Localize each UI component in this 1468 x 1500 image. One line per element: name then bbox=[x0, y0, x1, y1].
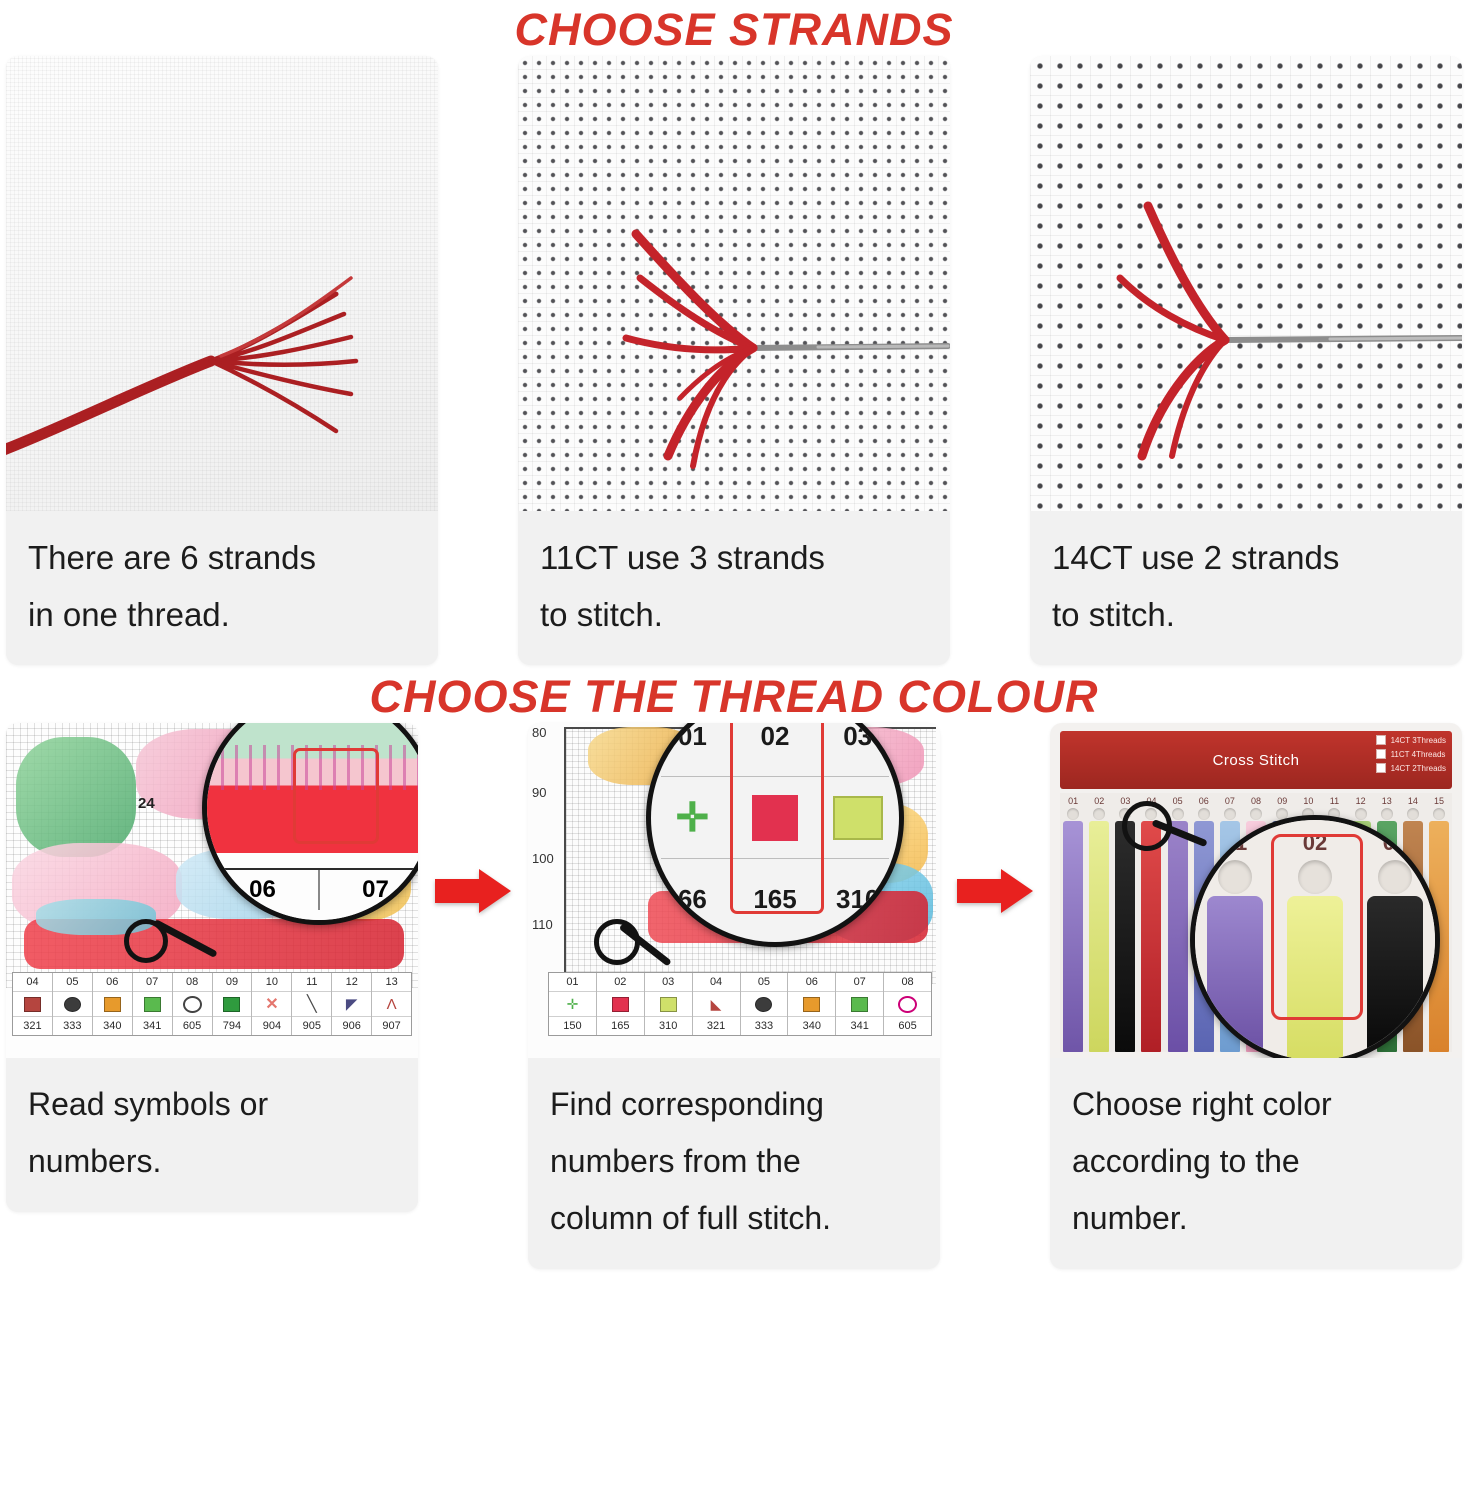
skein[interactable]: 02 bbox=[1086, 793, 1112, 1052]
pattern-chart: 24 06 07 04321 05333 06340 bbox=[6, 723, 418, 1058]
legend-column: 08605 bbox=[884, 973, 931, 1035]
numbered-chart: 80 90 100 110 01 02 03 bbox=[528, 723, 940, 1058]
legend-column: 06340 bbox=[788, 973, 836, 1035]
legend-symbol-leaf: ◤ bbox=[332, 992, 371, 1017]
legend-number: 333 bbox=[53, 1017, 92, 1035]
thread-3-strands-needle-illustration bbox=[518, 56, 950, 511]
legend-symbol bbox=[13, 992, 52, 1017]
magnifier-focus-ring bbox=[1122, 801, 1172, 851]
legend-number: 321 bbox=[693, 1017, 740, 1035]
arrow-2-wrap bbox=[945, 723, 1045, 1058]
legend-symbol bbox=[788, 992, 835, 1017]
magnifier-lens-skeins[interactable]: 01 02 03 bbox=[1190, 815, 1440, 1058]
legend-column: 10✕904 bbox=[252, 973, 292, 1035]
skein-label: 05 bbox=[1173, 796, 1183, 806]
lens-number-row: 06 07 bbox=[207, 868, 418, 910]
legend-column: 11╲905 bbox=[292, 973, 332, 1035]
caption-line-3: number. bbox=[1072, 1190, 1440, 1247]
caption-line-2: to stitch. bbox=[540, 586, 928, 643]
lens-symbol-plus: ✛ bbox=[651, 777, 734, 859]
arrow-right-icon bbox=[957, 868, 1033, 914]
skein[interactable]: 01 bbox=[1060, 793, 1086, 1052]
legend-header: 05 bbox=[741, 973, 788, 992]
lens-skein: 01 bbox=[1195, 820, 1275, 1058]
legend-number: 904 bbox=[252, 1017, 291, 1035]
skein-label: 09 bbox=[1277, 796, 1287, 806]
page-title-choose-strands: CHOOSE STRANDS bbox=[0, 0, 1468, 56]
option-label: 14CT 3Threads bbox=[1391, 736, 1446, 745]
legend-symbol bbox=[597, 992, 644, 1017]
lens-skein: 03 bbox=[1355, 820, 1435, 1058]
caption-line-1: Choose right color bbox=[1072, 1076, 1440, 1133]
legend-symbol bbox=[53, 992, 92, 1017]
legend-column: 09794 bbox=[213, 973, 253, 1035]
legend-header: 02 bbox=[597, 973, 644, 992]
axis-label-90: 90 bbox=[532, 785, 546, 800]
legend-header: 07 bbox=[133, 973, 172, 992]
skein-hole-icon bbox=[1198, 808, 1210, 820]
legend-symbol-plus: ✛ bbox=[549, 992, 596, 1017]
lens-header-01: 01 bbox=[651, 723, 734, 777]
legend-header: 13 bbox=[372, 973, 411, 992]
legend-symbol-leaf: ◣ bbox=[693, 992, 740, 1017]
caption-strands-6: There are 6 strands in one thread. bbox=[6, 511, 438, 665]
legend-symbol bbox=[93, 992, 132, 1017]
lens-skein-floss bbox=[1367, 896, 1423, 1058]
legend-header: 09 bbox=[213, 973, 252, 992]
skein-hole-icon bbox=[1381, 808, 1393, 820]
legend-number: 165 bbox=[597, 1017, 644, 1035]
caption-line-2: according to the bbox=[1072, 1133, 1440, 1190]
legend-header: 03 bbox=[645, 973, 692, 992]
magnifier-lens-pattern[interactable]: 06 07 bbox=[202, 723, 418, 925]
skein-hole-icon bbox=[1093, 808, 1105, 820]
caption-line-2: in one thread. bbox=[28, 586, 416, 643]
skein-label: 12 bbox=[1356, 796, 1366, 806]
legend-number: 907 bbox=[372, 1017, 411, 1035]
legend-symbol-slash: ╲ bbox=[292, 992, 331, 1017]
skein-label: 07 bbox=[1225, 796, 1235, 806]
legend-number: 341 bbox=[133, 1017, 172, 1035]
thread-card: Cross Stitch 14CT 3Threads 11CT 4Threads… bbox=[1050, 723, 1462, 1058]
lens-highlight-box-02 bbox=[730, 723, 824, 914]
legend-header: 10 bbox=[252, 973, 291, 992]
skein-label: 06 bbox=[1199, 796, 1209, 806]
legend-symbol-x: ✕ bbox=[252, 992, 291, 1017]
skein-label: 02 bbox=[1094, 796, 1104, 806]
legend-header: 06 bbox=[93, 973, 132, 992]
legend-symbol bbox=[173, 992, 212, 1017]
number-legend-table: 01✛150 02165 03310 04◣321 05333 06340 07… bbox=[548, 972, 932, 1036]
legend-header: 08 bbox=[884, 973, 931, 992]
thread-card-title: Cross Stitch bbox=[1213, 752, 1300, 769]
checkbox-icon[interactable] bbox=[1376, 735, 1386, 745]
legend-symbol bbox=[133, 992, 172, 1017]
caption-line-2: numbers. bbox=[28, 1133, 396, 1190]
legend-symbol bbox=[884, 992, 931, 1017]
card-14ct: 14CT use 2 strands to stitch. bbox=[1030, 56, 1462, 665]
legend-column: 13Λ907 bbox=[372, 973, 411, 1035]
caption-14ct: 14CT use 2 strands to stitch. bbox=[1030, 511, 1462, 665]
legend-number: 794 bbox=[213, 1017, 252, 1035]
axis-label-110: 110 bbox=[532, 917, 553, 932]
thread-card-option[interactable]: 14CT 3Threads bbox=[1376, 735, 1446, 745]
caption-11ct: 11CT use 3 strands to stitch. bbox=[518, 511, 950, 665]
lens-highlight-box bbox=[293, 748, 379, 844]
legend-header: 12 bbox=[332, 973, 371, 992]
skein-hole-icon bbox=[1378, 860, 1412, 894]
lens-skein-floss bbox=[1207, 896, 1263, 1058]
legend-number: 906 bbox=[332, 1017, 371, 1035]
legend-number: 905 bbox=[292, 1017, 331, 1035]
lens-header-03: 03 bbox=[816, 723, 899, 777]
photo-numbered-chart: 80 90 100 110 01 02 03 bbox=[528, 723, 940, 1058]
thread-2-strands-needle-illustration bbox=[1030, 56, 1462, 511]
legend-symbol bbox=[645, 992, 692, 1017]
arrow-1-wrap bbox=[423, 723, 523, 1058]
skein-hole-icon bbox=[1407, 808, 1419, 820]
skein-hole-icon bbox=[1355, 808, 1367, 820]
caption-line-1: Find corresponding bbox=[550, 1076, 918, 1133]
legend-column: 01✛150 bbox=[549, 973, 597, 1035]
skein-hole-icon bbox=[1172, 808, 1184, 820]
photo-pattern-chart: 24 06 07 04321 05333 06340 bbox=[6, 723, 418, 1058]
lens-symbol-lime bbox=[816, 777, 899, 859]
legend-header: 04 bbox=[13, 973, 52, 992]
skein-label: 10 bbox=[1303, 796, 1313, 806]
skein-label: 15 bbox=[1434, 796, 1444, 806]
card-find-numbers: 80 90 100 110 01 02 03 bbox=[528, 723, 940, 1269]
skein-hole-icon bbox=[1218, 860, 1252, 894]
legend-number: 150 bbox=[549, 1017, 596, 1035]
card-read-symbols: 24 06 07 04321 05333 06340 bbox=[6, 723, 418, 1212]
legend-header: 07 bbox=[836, 973, 883, 992]
legend-column: 06340 bbox=[93, 973, 133, 1035]
legend-number: 310 bbox=[645, 1017, 692, 1035]
legend-number: 605 bbox=[884, 1017, 931, 1035]
caption-line-1: There are 6 strands bbox=[28, 529, 416, 586]
legend-column: 07341 bbox=[836, 973, 884, 1035]
skein-label: 08 bbox=[1251, 796, 1261, 806]
photo-aida-14ct bbox=[1030, 56, 1462, 511]
caption-read-symbols: Read symbols or numbers. bbox=[6, 1058, 418, 1212]
legend-column: 12◤906 bbox=[332, 973, 372, 1035]
skein-hole-icon bbox=[1224, 808, 1236, 820]
legend-column: 04321 bbox=[13, 973, 53, 1035]
caption-line-2: to stitch. bbox=[1052, 586, 1440, 643]
caption-line-1: Read symbols or bbox=[28, 1076, 396, 1133]
checkbox-icon[interactable] bbox=[1376, 763, 1386, 773]
legend-number: 321 bbox=[13, 1017, 52, 1035]
skein-label: 03 bbox=[1120, 796, 1130, 806]
axis-label-80: 80 bbox=[532, 725, 546, 740]
legend-column: 05333 bbox=[53, 973, 93, 1035]
caption-line-1: 14CT use 2 strands bbox=[1052, 529, 1440, 586]
skein-floss bbox=[1089, 821, 1109, 1052]
caption-find-numbers: Find corresponding numbers from the colu… bbox=[528, 1058, 940, 1269]
photo-plain-cloth bbox=[6, 56, 438, 511]
magnifier-lens-numbers[interactable]: 01 02 03 ✛ 66 165 310 bbox=[646, 723, 904, 947]
legend-symbol bbox=[741, 992, 788, 1017]
skein-floss bbox=[1063, 821, 1083, 1052]
option-label: 14CT 2Threads bbox=[1391, 764, 1446, 773]
magnifier-focus-ring bbox=[594, 919, 640, 965]
photo-aida-11ct bbox=[518, 56, 950, 511]
legend-header: 04 bbox=[693, 973, 740, 992]
thread-card-option[interactable]: 11CT 4Threads bbox=[1376, 749, 1446, 759]
magnifier-focus-ring bbox=[124, 919, 168, 963]
skein-label: 01 bbox=[1068, 796, 1078, 806]
symbol-legend-table: 04321 05333 06340 07341 08605 09794 10✕9… bbox=[12, 972, 412, 1036]
legend-number: 605 bbox=[173, 1017, 212, 1035]
legend-column: 07341 bbox=[133, 973, 173, 1035]
caption-choose-colour: Choose right color according to the numb… bbox=[1050, 1058, 1462, 1269]
thread-card-option[interactable]: 14CT 2Threads bbox=[1376, 763, 1446, 773]
legend-column: 08605 bbox=[173, 973, 213, 1035]
thread-colour-row: 24 06 07 04321 05333 06340 bbox=[0, 723, 1468, 1269]
lens-skein-label: 03 bbox=[1383, 830, 1407, 856]
legend-symbol bbox=[213, 992, 252, 1017]
legend-number: 340 bbox=[93, 1017, 132, 1035]
legend-header: 01 bbox=[549, 973, 596, 992]
caption-line-2: numbers from the bbox=[550, 1133, 918, 1190]
axis-label-100: 100 bbox=[532, 851, 554, 866]
lens-code-310: 310 bbox=[816, 859, 899, 941]
lens-skein-label: 01 bbox=[1223, 830, 1247, 856]
lens-code-66: 66 bbox=[651, 859, 734, 941]
chart-row-label: 24 bbox=[138, 795, 155, 812]
skein-label: 13 bbox=[1382, 796, 1392, 806]
legend-number: 340 bbox=[788, 1017, 835, 1035]
legend-number: 333 bbox=[741, 1017, 788, 1035]
skein-hole-icon bbox=[1067, 808, 1079, 820]
skein-label: 11 bbox=[1330, 796, 1339, 806]
checkbox-icon[interactable] bbox=[1376, 749, 1386, 759]
skein-floss bbox=[1115, 821, 1135, 1052]
skein-floss bbox=[1141, 821, 1161, 1052]
arrow-right-icon bbox=[435, 868, 511, 914]
legend-column: 05333 bbox=[741, 973, 789, 1035]
legend-header: 11 bbox=[292, 973, 331, 992]
pattern-blob-green bbox=[16, 737, 136, 857]
legend-header: 05 bbox=[53, 973, 92, 992]
skein-floss bbox=[1168, 821, 1188, 1052]
legend-header: 08 bbox=[173, 973, 212, 992]
skein-label: 14 bbox=[1408, 796, 1418, 806]
lens-label-right: 07 bbox=[320, 870, 418, 910]
page-title-choose-thread-colour: CHOOSE THE THREAD COLOUR bbox=[0, 665, 1468, 723]
photo-thread-card: Cross Stitch 14CT 3Threads 11CT 4Threads… bbox=[1050, 723, 1462, 1058]
lens-label-left: 06 bbox=[207, 870, 320, 910]
legend-number: 341 bbox=[836, 1017, 883, 1035]
card-strands-6: There are 6 strands in one thread. bbox=[6, 56, 438, 665]
card-11ct: 11CT use 3 strands to stitch. bbox=[518, 56, 950, 665]
thread-card-options: 14CT 3Threads 11CT 4Threads 14CT 2Thread… bbox=[1376, 735, 1446, 773]
lens-highlight-box-02 bbox=[1271, 834, 1363, 1020]
skein-hole-icon bbox=[1433, 808, 1445, 820]
legend-column: 04◣321 bbox=[693, 973, 741, 1035]
legend-column: 03310 bbox=[645, 973, 693, 1035]
caption-line-3: column of full stitch. bbox=[550, 1190, 918, 1247]
legend-header: 06 bbox=[788, 973, 835, 992]
legend-symbol bbox=[836, 992, 883, 1017]
skein-hole-icon bbox=[1250, 808, 1262, 820]
caption-line-1: 11CT use 3 strands bbox=[540, 529, 928, 586]
card-choose-colour: Cross Stitch 14CT 3Threads 11CT 4Threads… bbox=[1050, 723, 1462, 1269]
thread-6-strands-illustration bbox=[6, 56, 438, 511]
option-label: 11CT 4Threads bbox=[1391, 750, 1446, 759]
legend-column: 02165 bbox=[597, 973, 645, 1035]
strands-row: There are 6 strands in one thread. bbox=[0, 56, 1468, 665]
legend-symbol-caret: Λ bbox=[372, 992, 411, 1017]
